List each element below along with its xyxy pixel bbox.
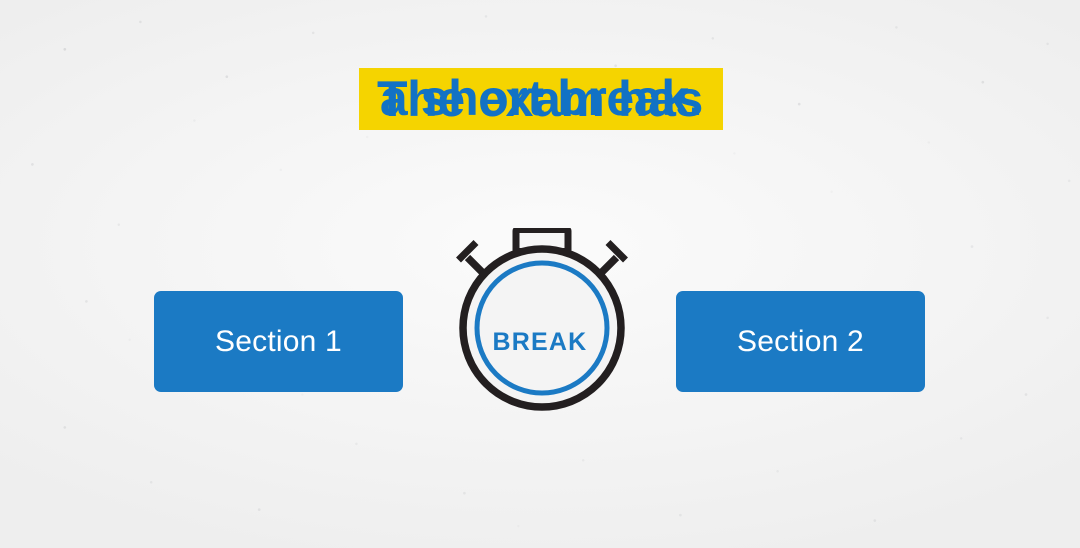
headline: The exam has <box>0 74 1080 130</box>
section-2-button[interactable]: Section 2 <box>676 291 925 392</box>
stopwatch-icon <box>452 228 632 413</box>
stopwatch-outer-ring <box>463 249 621 407</box>
section-1-label: Section 1 <box>215 325 342 359</box>
section-2-label: Section 2 <box>737 325 864 359</box>
headline-line-1: The exam has <box>0 74 1080 124</box>
slide-canvas: The exam has a short break. Section 1 Se… <box>0 0 1080 548</box>
section-1-button[interactable]: Section 1 <box>154 291 403 392</box>
